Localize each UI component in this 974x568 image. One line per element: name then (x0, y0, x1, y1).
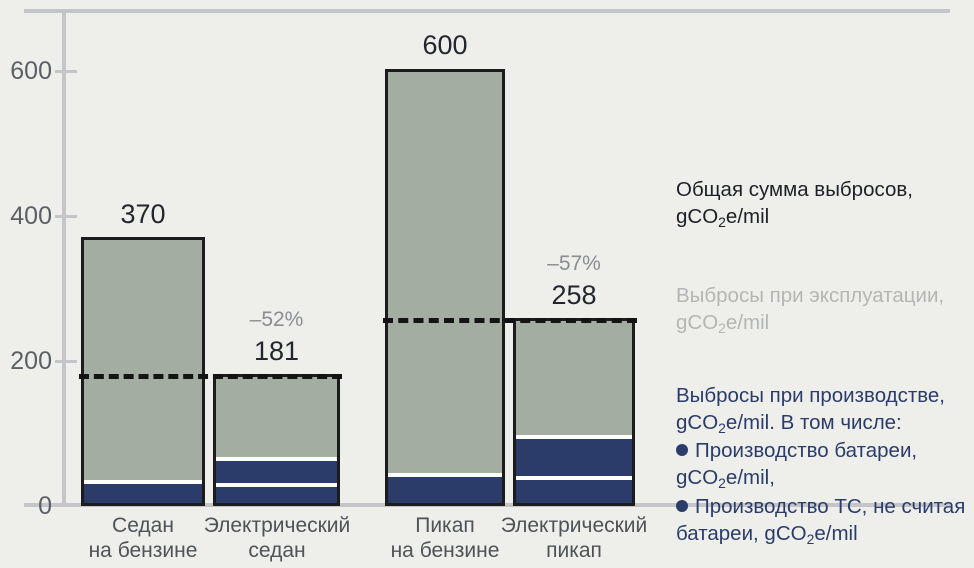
bar-electric-sedan[interactable] (213, 374, 340, 506)
segment-operation (516, 321, 632, 435)
bar-pct-label-electric-pickup: –57% (513, 252, 635, 276)
bullet-icon (676, 500, 688, 512)
legend-subitem-battery: Производство батареи, (676, 437, 974, 464)
category-line-1: Пикап (415, 514, 475, 537)
unit-prefix: gCO (676, 466, 718, 489)
legend-vehicle-unit: батареи, gCO2e/mil (676, 520, 974, 548)
unit-subscript: 2 (718, 320, 726, 336)
category-label-electric-pickup: Электрический пикап (494, 514, 654, 564)
legend-item-total: Общая сумма выбросов, gCO2e/mil (676, 176, 968, 231)
legend-vehicle-line1: Производство ТС, не считая (695, 495, 965, 518)
bar-total-label-electric-sedan: 181 (213, 336, 340, 367)
unit-prefix: батареи, gCO (676, 522, 807, 545)
segment-vehicle-production (216, 457, 337, 483)
category-line-1: Электрический (501, 514, 648, 537)
segment-vehicle-production (516, 435, 632, 476)
bar-total-label-gasoline-pickup: 600 (385, 30, 505, 61)
chart-page: 600 400 200 0 370 181 –52% 600 (0, 0, 974, 568)
segment-battery-production (516, 476, 632, 506)
bar-pct-label-electric-sedan: –52% (213, 308, 340, 332)
segment-vehicle-production (84, 480, 202, 506)
unit-subscript: 2 (718, 475, 726, 491)
unit-suffix: e/mil (726, 205, 769, 228)
bar-total-label-gasoline-sedan: 370 (81, 199, 205, 230)
unit-suffix: e/mil, (726, 466, 775, 489)
segment-battery-production (216, 483, 337, 506)
reference-line-181 (79, 374, 342, 379)
legend-total-unit: gCO2e/mil (676, 205, 769, 228)
legend-battery-line1: Производство батареи, (695, 439, 917, 462)
unit-subscript: 2 (718, 420, 726, 436)
unit-suffix: e/mil. В том числе: (726, 411, 902, 434)
unit-suffix: e/mil (814, 522, 857, 545)
bar-electric-pickup[interactable] (513, 318, 635, 506)
unit-subscript: 2 (718, 214, 726, 230)
legend-operation-line1: Выбросы при эксплуатации, (676, 284, 944, 307)
unit-suffix: e/mil (726, 311, 769, 334)
legend-production-line1: Выбросы при производстве, (676, 384, 945, 407)
legend-item-production: Выбросы при производстве, gCO2e/mil. В т… (676, 382, 974, 548)
category-label-electric-sedan: Электрический седан (196, 514, 358, 564)
unit-prefix: gCO (676, 311, 718, 334)
unit-prefix: gCO (676, 205, 718, 228)
legend-operation-unit: gCO2e/mil (676, 311, 769, 334)
segment-vehicle-production (388, 473, 502, 506)
bar-total-label-electric-pickup: 258 (513, 280, 635, 311)
segment-operation (84, 240, 202, 480)
category-line-1: Седан (112, 514, 174, 537)
category-line-1: Электрический (204, 514, 351, 537)
category-line-2: на бензине (89, 539, 198, 562)
segment-operation (388, 72, 502, 473)
unit-prefix: gCO (676, 411, 718, 434)
legend-item-operation: Выбросы при эксплуатации, gCO2e/mil (676, 282, 968, 337)
bar-gasoline-sedan[interactable] (81, 237, 205, 506)
category-line-2: пикап (546, 539, 602, 562)
segment-operation (216, 377, 337, 457)
bar-gasoline-pickup[interactable] (385, 69, 505, 506)
category-line-2: на бензине (391, 539, 500, 562)
legend-subitem-vehicle: Производство ТС, не считая (676, 493, 974, 520)
bullet-icon (676, 444, 688, 456)
legend-battery-unit: gCO2e/mil, (676, 464, 974, 492)
legend-total-line1: Общая сумма выбросов, (676, 178, 913, 201)
legend-production-unit: gCO2e/mil. В том числе: (676, 411, 902, 434)
reference-line-258 (383, 318, 637, 323)
category-line-2: седан (248, 539, 305, 562)
